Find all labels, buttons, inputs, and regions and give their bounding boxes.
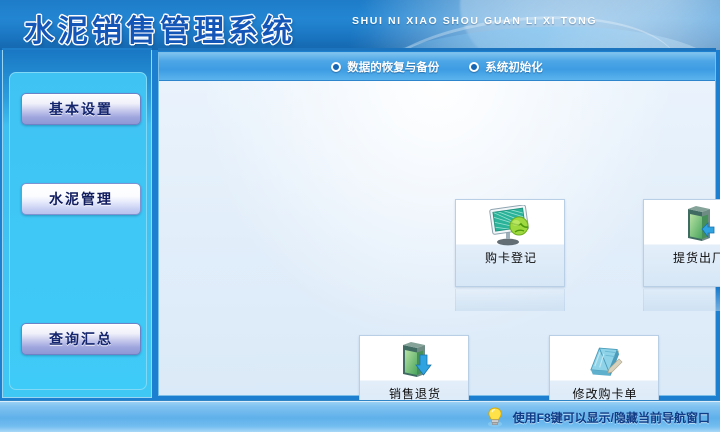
app-subtitle-pinyin: SHUI NI XIAO SHOU GUAN LI XI TONG <box>352 15 597 27</box>
app-header: 水泥销售管理系统 SHUI NI XIAO SHOU GUAN LI XI TO… <box>0 0 720 50</box>
blue-book-pen-icon <box>550 340 659 384</box>
menu-item-label: 系统初始化 <box>485 59 543 75</box>
menu-item-data-backup-restore[interactable]: 数据的恢复与备份 <box>329 59 441 75</box>
panel-body: 购卡登记 <box>159 81 715 395</box>
menu-item-system-initialization[interactable]: 系统初始化 <box>467 59 545 75</box>
sidebar-item-label: 基本设置 <box>49 99 113 119</box>
sidebar-inner-frame: 基本设置 水泥管理 查询汇总 <box>9 72 147 390</box>
sidebar-item-label: 查询汇总 <box>49 329 113 349</box>
panel-top-strip <box>158 48 716 51</box>
tile-pickup-delivery[interactable]: 提货出厂 <box>643 199 720 287</box>
radio-dot-icon <box>469 62 479 72</box>
tile-card: 购卡登记 <box>455 199 565 287</box>
navigation-sidebar: 基本设置 水泥管理 查询汇总 <box>2 50 152 398</box>
sidebar-item-query-summary[interactable]: 查询汇总 <box>21 323 141 355</box>
menu-item-label: 数据的恢复与备份 <box>347 59 439 75</box>
status-bar-content: 使用F8键可以显示/隐藏当前导航窗口 <box>485 401 710 432</box>
tile-card: 提货出厂 <box>643 199 720 287</box>
radio-dot-icon <box>331 62 341 72</box>
application-window: 水泥销售管理系统 SHUI NI XIAO SHOU GUAN LI XI TO… <box>0 0 720 432</box>
tile-reflection <box>455 289 565 311</box>
status-bar: 使用F8键可以显示/隐藏当前导航窗口 <box>0 400 720 432</box>
tile-label: 提货出厂 <box>644 250 720 266</box>
sidebar-item-label: 水泥管理 <box>49 189 113 209</box>
monitor-globe-icon <box>456 204 565 248</box>
sidebar-item-cement-management[interactable]: 水泥管理 <box>21 183 141 215</box>
app-title: 水泥销售管理系统 <box>24 6 296 50</box>
tile-label: 购卡登记 <box>456 250 565 266</box>
status-hint-text: 使用F8键可以显示/隐藏当前导航窗口 <box>513 409 710 426</box>
lightbulb-icon <box>485 406 505 428</box>
panel-menu-bar: 数据的恢复与备份 系统初始化 <box>159 53 715 81</box>
sidebar-item-basic-settings[interactable]: 基本设置 <box>21 93 141 125</box>
tile-card-purchase-registration[interactable]: 购卡登记 <box>455 199 565 287</box>
green-folder-arrow-out-icon <box>644 204 720 248</box>
green-folder-arrow-down-icon <box>360 340 469 384</box>
tile-reflection <box>643 289 720 311</box>
main-content-panel: 数据的恢复与备份 系统初始化 <box>158 52 716 396</box>
